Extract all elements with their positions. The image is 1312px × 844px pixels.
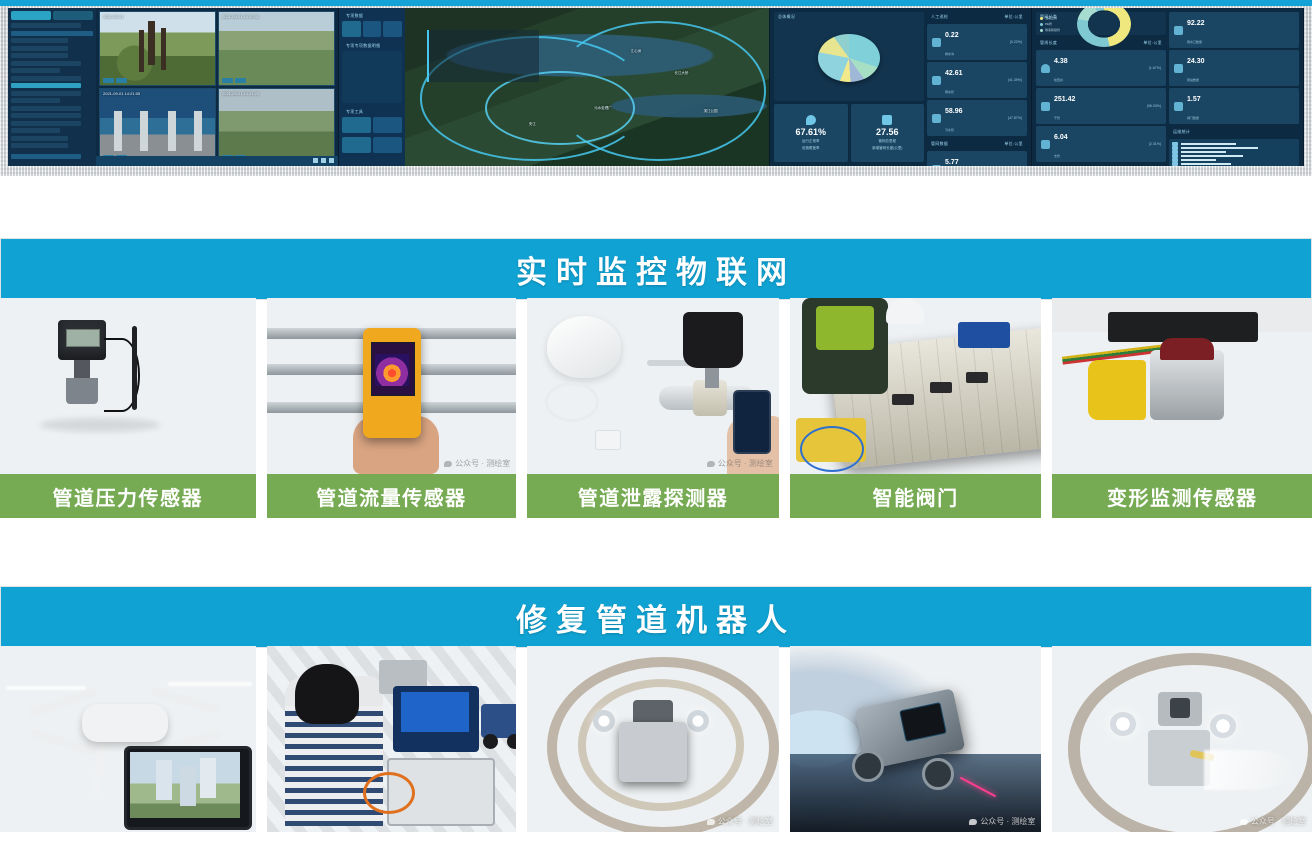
map-tool-buttons[interactable]	[342, 117, 402, 133]
card-pipe-crawler[interactable]: 公众号 · 测绘室	[527, 646, 779, 832]
camera-grid[interactable]: 2021-09-01 2021-09-01 14:20:31 2021-09-0…	[96, 8, 338, 166]
stat-row[interactable]: 0.22排水沟 (0.22%)	[927, 24, 1027, 60]
card-caption: 管道压力传感器	[0, 474, 256, 518]
card-caption: 管道流量传感器	[267, 474, 517, 518]
stat-unit: 污水管	[945, 128, 954, 132]
map-label: 滨江公园	[703, 109, 717, 114]
pipe-interior-crawler-photo[interactable]: 公众号 · 测绘室	[527, 646, 779, 832]
legend-entry: PE管	[1040, 22, 1060, 26]
facility-column: 92.22雨水口数量 24.30泵站数量 1.57闸门数量 运维统计	[1169, 12, 1299, 162]
tree-node[interactable]	[11, 53, 68, 58]
stat-value: 5.77	[945, 159, 959, 166]
cctv-crawler-robot-photo[interactable]: 公众号 · 测绘室	[790, 646, 1042, 832]
stat-row[interactable]: 4.38检查井 (1.67%)	[1036, 50, 1166, 86]
card-flow-sensor[interactable]: 公众号 · 测绘室 管道流量传感器	[267, 298, 517, 520]
camera-feed[interactable]: 2021-09-01 14:21:22	[218, 88, 335, 163]
tree-leaf[interactable]	[11, 143, 68, 148]
tree-node[interactable]	[11, 38, 68, 43]
ops-bar-list[interactable]	[1169, 139, 1299, 166]
flow-meter-handheld-photo[interactable]: 公众号 · 测绘室	[267, 298, 517, 474]
camera-timestamp: 2021-09-01 14:20:31	[222, 14, 259, 19]
image-watermark: 公众号 · 测绘室	[707, 458, 773, 469]
highlight-tile[interactable]: 67.61% 运行正常率 设施覆盖率	[774, 104, 848, 162]
tree-leaf[interactable]	[11, 128, 60, 133]
card-pressure-sensor[interactable]: 管道压力传感器	[0, 298, 256, 520]
ditch-icon	[932, 38, 941, 47]
tree-leaf-selected[interactable]	[11, 83, 81, 88]
panel-overview-stats[interactable]: 总体概况 67.61% 运行正常率 设施覆盖率 27.56 管网总里程 新增管网	[770, 8, 1032, 166]
stat-unit: 雨水管	[945, 90, 954, 94]
stat-group-facility: 92.22雨水口数量 24.30泵站数量 1.57闸门数量	[1169, 12, 1299, 124]
card-field-inspection[interactable]	[267, 646, 517, 832]
inlet-icon	[1174, 26, 1183, 35]
card-row-robots: 公众号 · 测绘室 公众号 · 测绘室 公众号 · 测绘室	[0, 646, 1312, 832]
stat-unit: 闸门数量	[1187, 116, 1199, 120]
valve-icon	[882, 115, 892, 125]
pipe-material-donut-chart[interactable]: 管网分类 混凝土管 PE管 球墨铸铁管	[1036, 12, 1166, 35]
satellite-map[interactable]: 江心洲 长江大桥 污水处理厂 夹江 滨江公园	[405, 8, 769, 166]
leak-detector-smart-valve-photo[interactable]: 公众号 · 测绘室	[527, 298, 779, 474]
image-watermark: 公众号 · 测绘室	[1240, 816, 1306, 827]
dashboard-panels: 2021-09-01 2021-09-01 14:20:31 2021-09-0…	[8, 8, 1304, 166]
stat-unit: 检查井	[1054, 78, 1063, 82]
group-title: 管网数据	[927, 139, 952, 149]
map-detail-title: 专项专项数据明细	[342, 41, 402, 51]
stat-percent: (2.31%)	[1149, 142, 1161, 146]
pipe-cleaning-jet-robot-photo[interactable]: 公众号 · 测绘室	[1052, 646, 1312, 832]
camera-feed[interactable]: 2021-09-01	[99, 11, 216, 86]
rain-pipe-icon	[932, 76, 941, 85]
donut-column: 管网分类 混凝土管 PE管 球墨铸铁管 管线长度 单位:公里	[1036, 12, 1166, 162]
stat-value: 4.38	[1054, 58, 1068, 65]
overview-right-column: 人工巡检 单位:公里 0.22排水沟 (0.22%) 42.61雨水管 (41.…	[927, 12, 1027, 162]
card-jet-cleaning-robot[interactable]: 公众号 · 测绘室	[1052, 646, 1312, 832]
section-title: 修复管道机器人	[516, 595, 796, 640]
map-stat-tiles[interactable]	[342, 21, 402, 37]
map-label: 夹江	[529, 122, 536, 127]
tab-realtime-monitor[interactable]	[11, 11, 51, 20]
card-drone[interactable]	[0, 646, 256, 832]
stat-value: 58.96	[945, 108, 963, 115]
map-detail-table[interactable]	[342, 51, 402, 103]
map-sidebar[interactable]: 专项数据 专项专项数据明细 专项工具	[339, 8, 405, 166]
camera-timestamp: 2021-09-01	[103, 14, 123, 19]
stat-row[interactable]: 58.96污水管 (47.87%)	[927, 100, 1027, 136]
group-unit: 单位:公里	[1000, 139, 1027, 149]
stat-row[interactable]: 1.57闸门数量	[1169, 88, 1299, 124]
stat-value: 92.22	[1187, 20, 1205, 27]
camera-tree-sidebar[interactable]	[8, 8, 96, 166]
group-title: 管线长度	[1036, 38, 1061, 48]
stat-value: 42.61	[945, 70, 963, 77]
stat-value: 6.04	[1054, 134, 1068, 141]
highlight-tiles: 67.61% 运行正常率 设施覆盖率 27.56 管网总里程 新增管网长度(公里…	[774, 104, 924, 162]
stat-percent: (41.39%)	[1008, 78, 1022, 82]
main-pipe-icon	[1041, 102, 1050, 111]
stat-value: 1.57	[1187, 96, 1201, 103]
card-leak-detector[interactable]: 公众号 · 测绘室 管道泄露探测器	[527, 298, 779, 520]
manhole-icon	[1041, 64, 1050, 73]
tree-leaf[interactable]	[11, 136, 68, 141]
highlight-value: 67.61%	[795, 127, 826, 137]
stat-group-patrol: 人工巡检 单位:公里 0.22排水沟 (0.22%) 42.61雨水管 (41.…	[927, 12, 1027, 136]
stat-percent: (47.87%)	[1008, 116, 1022, 120]
combined-pipe-icon	[932, 165, 941, 167]
image-watermark: 公众号 · 测绘室	[444, 458, 510, 469]
highlight-value: 27.56	[876, 127, 899, 137]
distribution-pie-chart[interactable]: 总体概况	[774, 12, 924, 101]
stat-row[interactable]: 6.04支管 (2.31%)	[1036, 126, 1166, 162]
stat-row[interactable]: 5.77合流制管道 (4.49%)	[927, 151, 1027, 166]
stat-row[interactable]: 24.30泵站数量	[1169, 50, 1299, 86]
image-watermark: 公众号 · 测绘室	[707, 816, 773, 827]
map-label: 江心洲	[631, 49, 642, 54]
stat-unit: 支管	[1054, 154, 1060, 158]
stat-row[interactable]: 92.22雨水口数量	[1169, 12, 1299, 48]
stat-group-ops: 运维统计	[1169, 127, 1299, 166]
stat-percent: (1.67%)	[1149, 66, 1161, 70]
group-unit: 单位:公里	[1139, 38, 1166, 48]
camera-feed[interactable]: 2021-09-01 14:20:31	[218, 11, 335, 86]
branch-pipe-icon	[1041, 140, 1050, 149]
drone-with-tablet-photo[interactable]	[0, 646, 256, 832]
deformation-sensor-photo[interactable]	[1052, 298, 1312, 474]
pump-station-icon	[1174, 64, 1183, 73]
stat-row[interactable]: 42.61雨水管 (41.39%)	[927, 62, 1027, 98]
group-title: 运维统计	[1169, 127, 1299, 137]
tree-leaf[interactable]	[11, 68, 60, 73]
image-watermark: 公众号 · 测绘室	[969, 816, 1035, 827]
camera-controls[interactable]	[222, 78, 246, 83]
section-banner-iot: 实时监控物联网	[0, 238, 1312, 300]
pressure-sensor-photo[interactable]	[0, 298, 256, 474]
tree-title	[11, 23, 81, 28]
card-cctv-robot[interactable]: 公众号 · 测绘室	[790, 646, 1042, 832]
card-smart-valve[interactable]: 智能阀门	[790, 298, 1042, 520]
legend-entry: 混凝土管	[1040, 16, 1060, 20]
stat-value: 251.42	[1054, 96, 1075, 103]
pie-title: 总体概况	[774, 12, 924, 22]
map-tools-title: 专项工具	[342, 107, 402, 117]
stat-value: 0.22	[945, 32, 959, 39]
dashboard-screenshot-strip: 2021-09-01 2021-09-01 14:20:31 2021-09-0…	[0, 0, 1312, 176]
legend-entry: 球墨铸铁管	[1040, 28, 1060, 32]
tree-leaf[interactable]	[11, 76, 81, 81]
group-title: 人工巡检	[927, 12, 952, 22]
highlight-label: 运行正常率	[802, 139, 820, 144]
tab-personnel-patrol[interactable]	[53, 11, 93, 20]
group-unit: 单位:公里	[1000, 12, 1027, 22]
tree-leaf[interactable]	[11, 98, 60, 103]
camera-controls[interactable]	[103, 78, 127, 83]
highlight-tile[interactable]: 27.56 管网总里程 新增管网长度(公里)	[851, 104, 925, 162]
pipe-field-sensors-photo[interactable]	[790, 298, 1042, 474]
card-caption: 变形监测传感器	[1052, 474, 1312, 518]
donut-legend: 混凝土管 PE管 球墨铸铁管	[1040, 16, 1060, 32]
gate-icon	[1174, 102, 1183, 111]
droplet-icon	[806, 115, 816, 125]
stat-unit: 雨水口数量	[1187, 40, 1202, 44]
camera-timestamp: 2021-09-01 14:21:22	[222, 91, 259, 96]
stat-group-pipe-length: 管线长度 单位:公里 4.38检查井 (1.67%) 251.42干管 (96.…	[1036, 38, 1166, 162]
sewage-pipe-icon	[932, 114, 941, 123]
stat-unit: 干管	[1054, 116, 1060, 120]
tree-leaf[interactable]	[11, 121, 81, 126]
tree-pagination[interactable]	[11, 154, 81, 159]
highlight-label: 管网总里程	[879, 139, 897, 144]
camera-timestamp: 2021-09-01 14:21:05	[103, 91, 140, 96]
stat-row[interactable]: 251.42干管 (96.03%)	[1036, 88, 1166, 124]
highlight-sub: 设施覆盖率	[802, 146, 820, 151]
map-label: 污水处理厂	[594, 106, 612, 111]
search-input[interactable]	[11, 31, 93, 36]
page-bottom-spacer	[0, 832, 1312, 844]
discharge-icon	[1172, 162, 1178, 166]
top-accent-bar	[0, 0, 1312, 6]
stat-group-network: 管网数据 单位:公里 5.77合流制管道 (4.49%) 140.53雨污分流 …	[927, 139, 1027, 166]
card-row-iot: 管道压力传感器 公众号 · 测绘室 管道流量传感器 公众号 · 测绘室 管道泄露…	[0, 298, 1312, 520]
stat-unit: 泵站数量	[1187, 78, 1199, 82]
pie-graphic	[818, 34, 880, 82]
tree-leaf[interactable]	[11, 113, 81, 118]
panel-network-classification[interactable]: 管网分类 混凝土管 PE管 球墨铸铁管 管线长度 单位:公里	[1032, 8, 1304, 166]
stat-percent: (0.22%)	[1010, 40, 1022, 44]
card-caption: 管道泄露探测器	[527, 474, 779, 518]
tree-leaf[interactable]	[11, 91, 81, 96]
stat-value: 24.30	[1187, 58, 1205, 65]
card-deformation-sensor[interactable]: 变形监测传感器	[1052, 298, 1312, 520]
pipeline-route	[485, 71, 635, 145]
stat-unit: 排水沟	[945, 52, 954, 56]
map-info-tooltip	[427, 30, 539, 82]
highlight-sub: 新增管网长度(公里)	[872, 146, 902, 151]
stat-percent: (96.03%)	[1147, 104, 1161, 108]
window-controls[interactable]	[313, 158, 334, 163]
panel-video-surveillance[interactable]: 2021-09-01 2021-09-01 14:20:31 2021-09-0…	[8, 8, 339, 166]
section-title: 实时监控物联网	[516, 247, 796, 292]
surveillance-tabs[interactable]	[11, 11, 93, 20]
map-tool-buttons[interactable]	[342, 137, 402, 153]
overview-left-column: 总体概况 67.61% 运行正常率 设施覆盖率 27.56 管网总里程 新增管网	[774, 12, 924, 162]
map-label: 长江大桥	[674, 71, 688, 76]
camera-feed[interactable]: 2021-09-01 14:21:05	[99, 88, 216, 163]
panel-footer-statusbar	[96, 156, 338, 166]
tree-leaf[interactable]	[11, 106, 81, 111]
section-banner-robots: 修复管道机器人	[0, 586, 1312, 648]
field-inspection-robot-photo[interactable]	[267, 646, 517, 832]
tree-node[interactable]	[11, 61, 81, 66]
card-caption: 智能阀门	[790, 474, 1042, 518]
panel-gis-map[interactable]: 专项数据 专项专项数据明细 专项工具 江心洲 长江大桥 污水处理厂 夹江 滨江公…	[339, 8, 770, 166]
tree-node[interactable]	[11, 46, 68, 51]
map-panel-title: 专项数据	[342, 11, 402, 21]
ops-bar-row	[1172, 162, 1296, 166]
